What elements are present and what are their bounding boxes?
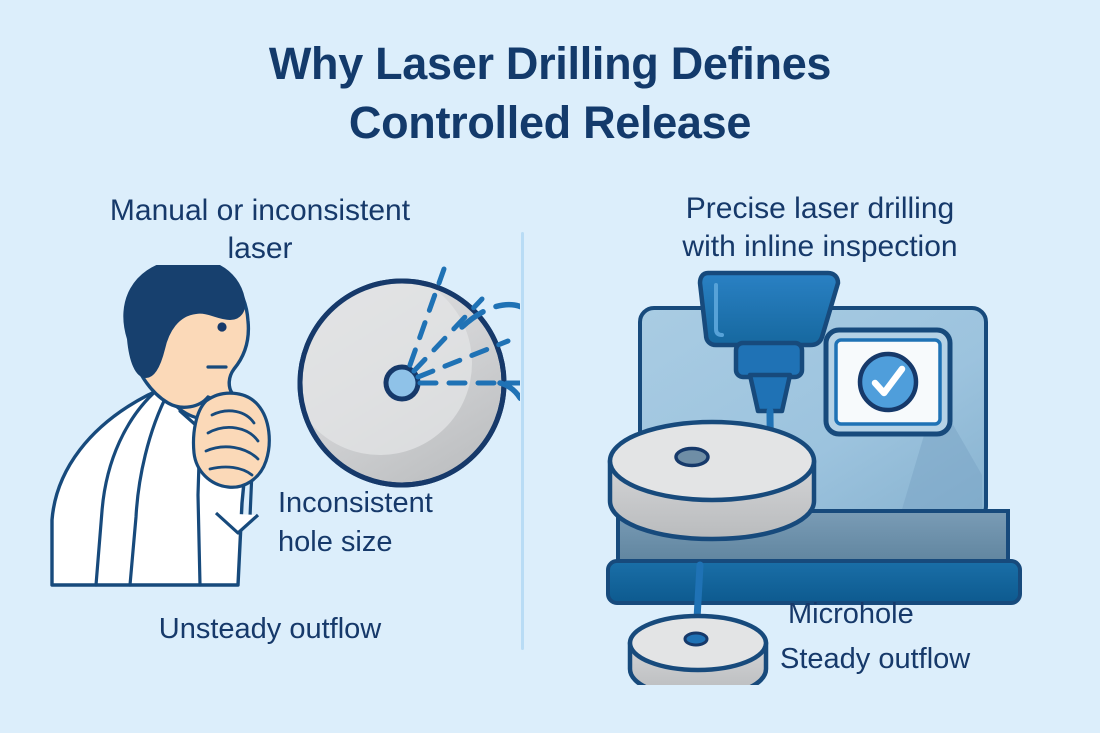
inspection-screen[interactable] (826, 330, 950, 434)
lower-tablet-side (630, 643, 766, 685)
laser-nozzle (750, 375, 790, 411)
right-panel-heading-line-1: Precise laser drilling (600, 190, 1040, 228)
hair (124, 265, 244, 377)
caption-inconsistent-hole-size: Inconsistent hole size (278, 484, 508, 561)
tablet-on-worktable (610, 422, 814, 539)
drilled-tablet-with-microhole (630, 616, 766, 685)
page-title-line-1: Why Laser Drilling Defines (0, 34, 1100, 93)
caption-unsteady-outflow: Unsteady outflow (60, 610, 480, 649)
caption-steady-outflow: Steady outflow (780, 640, 1060, 679)
page-title-line-2: Controlled Release (0, 93, 1100, 152)
outflow-arcs (462, 305, 520, 457)
page-title: Why Laser Drilling Defines Controlled Re… (0, 34, 1100, 153)
right-panel-heading: Precise laser drilling with inline inspe… (600, 190, 1040, 267)
tablet-center-hole (386, 367, 418, 399)
face (130, 265, 248, 407)
left-panel-heading-line-1: Manual or inconsistent (20, 192, 500, 230)
upper-tablet-microhole (676, 449, 708, 466)
lab-coat (52, 377, 258, 585)
screen-display (836, 340, 940, 424)
worktable-slab (618, 511, 1008, 565)
laser-head-body (700, 273, 838, 345)
screen-bezel (826, 330, 950, 434)
left-panel-heading: Manual or inconsistent laser (20, 192, 500, 269)
machine-back-panel (640, 308, 986, 520)
erratic-outflow-lines (410, 269, 520, 383)
lower-tablet-microhole (685, 633, 707, 645)
check-icon (875, 369, 902, 393)
neck (170, 361, 216, 419)
laser-head-highlight (716, 285, 722, 335)
infographic-canvas: Why Laser Drilling Defines Controlled Re… (0, 0, 1100, 733)
panel-shadow (900, 395, 982, 516)
caption-hole-size-line-2: hole size (278, 523, 508, 562)
upper-tablet-top (610, 422, 814, 500)
left-panel-heading-line-2: laser (20, 230, 500, 268)
right-panel-heading-line-2: with inline inspection (600, 228, 1040, 266)
hand-on-chin (194, 393, 270, 487)
upper-tablet-side (610, 461, 814, 539)
laser-head-assembly (700, 273, 838, 411)
laser-beam (722, 411, 771, 481)
eye (217, 322, 226, 331)
laser-collar (736, 343, 802, 377)
panel-divider (521, 232, 524, 650)
tablet-disc (300, 281, 504, 485)
inconsistent-tablet-disc (288, 269, 520, 485)
ear (132, 326, 152, 358)
caption-hole-size-line-1: Inconsistent (278, 484, 508, 523)
scientist-figure (52, 265, 269, 585)
caption-microhole: Microhole (788, 595, 1048, 634)
status-check-badge (860, 354, 916, 410)
eyebrow (206, 307, 234, 313)
steady-outflow-stream (696, 565, 700, 637)
lower-tablet-top (630, 616, 766, 670)
